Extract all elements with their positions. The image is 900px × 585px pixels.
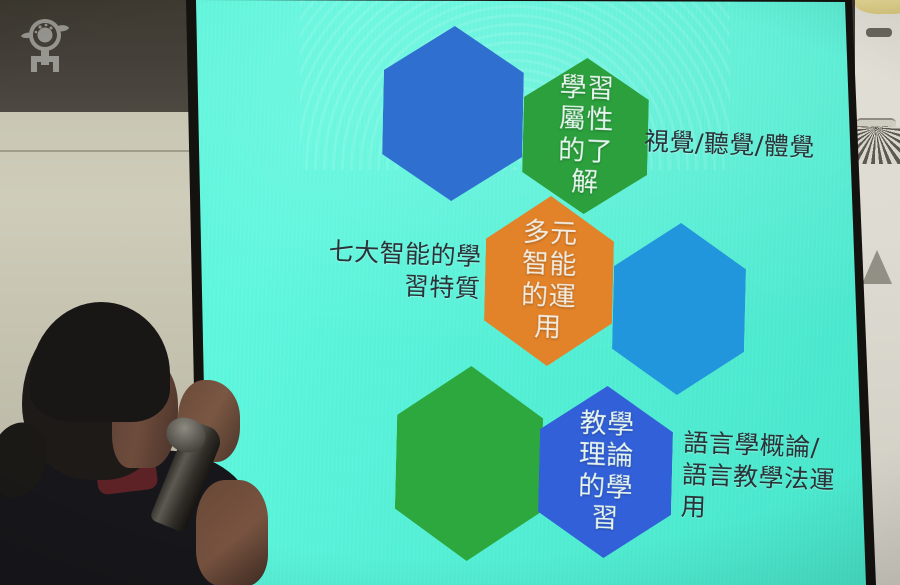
callout-right-bottom: 語言學概論/語言教學法運用 — [680, 427, 844, 529]
hexagon-bottom-left — [394, 364, 545, 563]
hexagon-center: 多元智能的運用 — [483, 194, 615, 367]
hexagon-top-left — [381, 25, 525, 203]
callout-right-top: 視覺/聽覺/體覺 — [643, 126, 824, 165]
hexagon-top-left-label — [415, 112, 491, 115]
mascot-logo-watermark — [12, 12, 78, 78]
fan-mount-icon — [866, 28, 892, 37]
hexagon-top-right-label: 學習屬性的了解 — [546, 72, 625, 201]
presenter-hair — [30, 302, 170, 422]
hexagon-middle-right — [611, 221, 747, 396]
presenter-mic-hand — [196, 480, 268, 585]
presenter-silhouette — [0, 300, 300, 585]
hexagon-middle-right-label — [641, 307, 717, 310]
callout-left-middle: 七大智能的學習特質 — [305, 235, 482, 306]
hexagon-bottom-left-label — [431, 462, 507, 465]
hexagon-top-right: 學習屬性的了解 — [521, 56, 650, 215]
hexagon-bottom-right-label: 教學理論的學習 — [566, 408, 645, 537]
hexagon-center-label: 多元智能的運用 — [510, 217, 589, 346]
hexagon-bottom-right: 教學理論的學習 — [537, 384, 674, 559]
photo-canvas: 學習屬性的了解 多元智能的運用 教學理論的學習 視覺/聽覺/體覺 七大智能的學習… — [0, 0, 900, 585]
